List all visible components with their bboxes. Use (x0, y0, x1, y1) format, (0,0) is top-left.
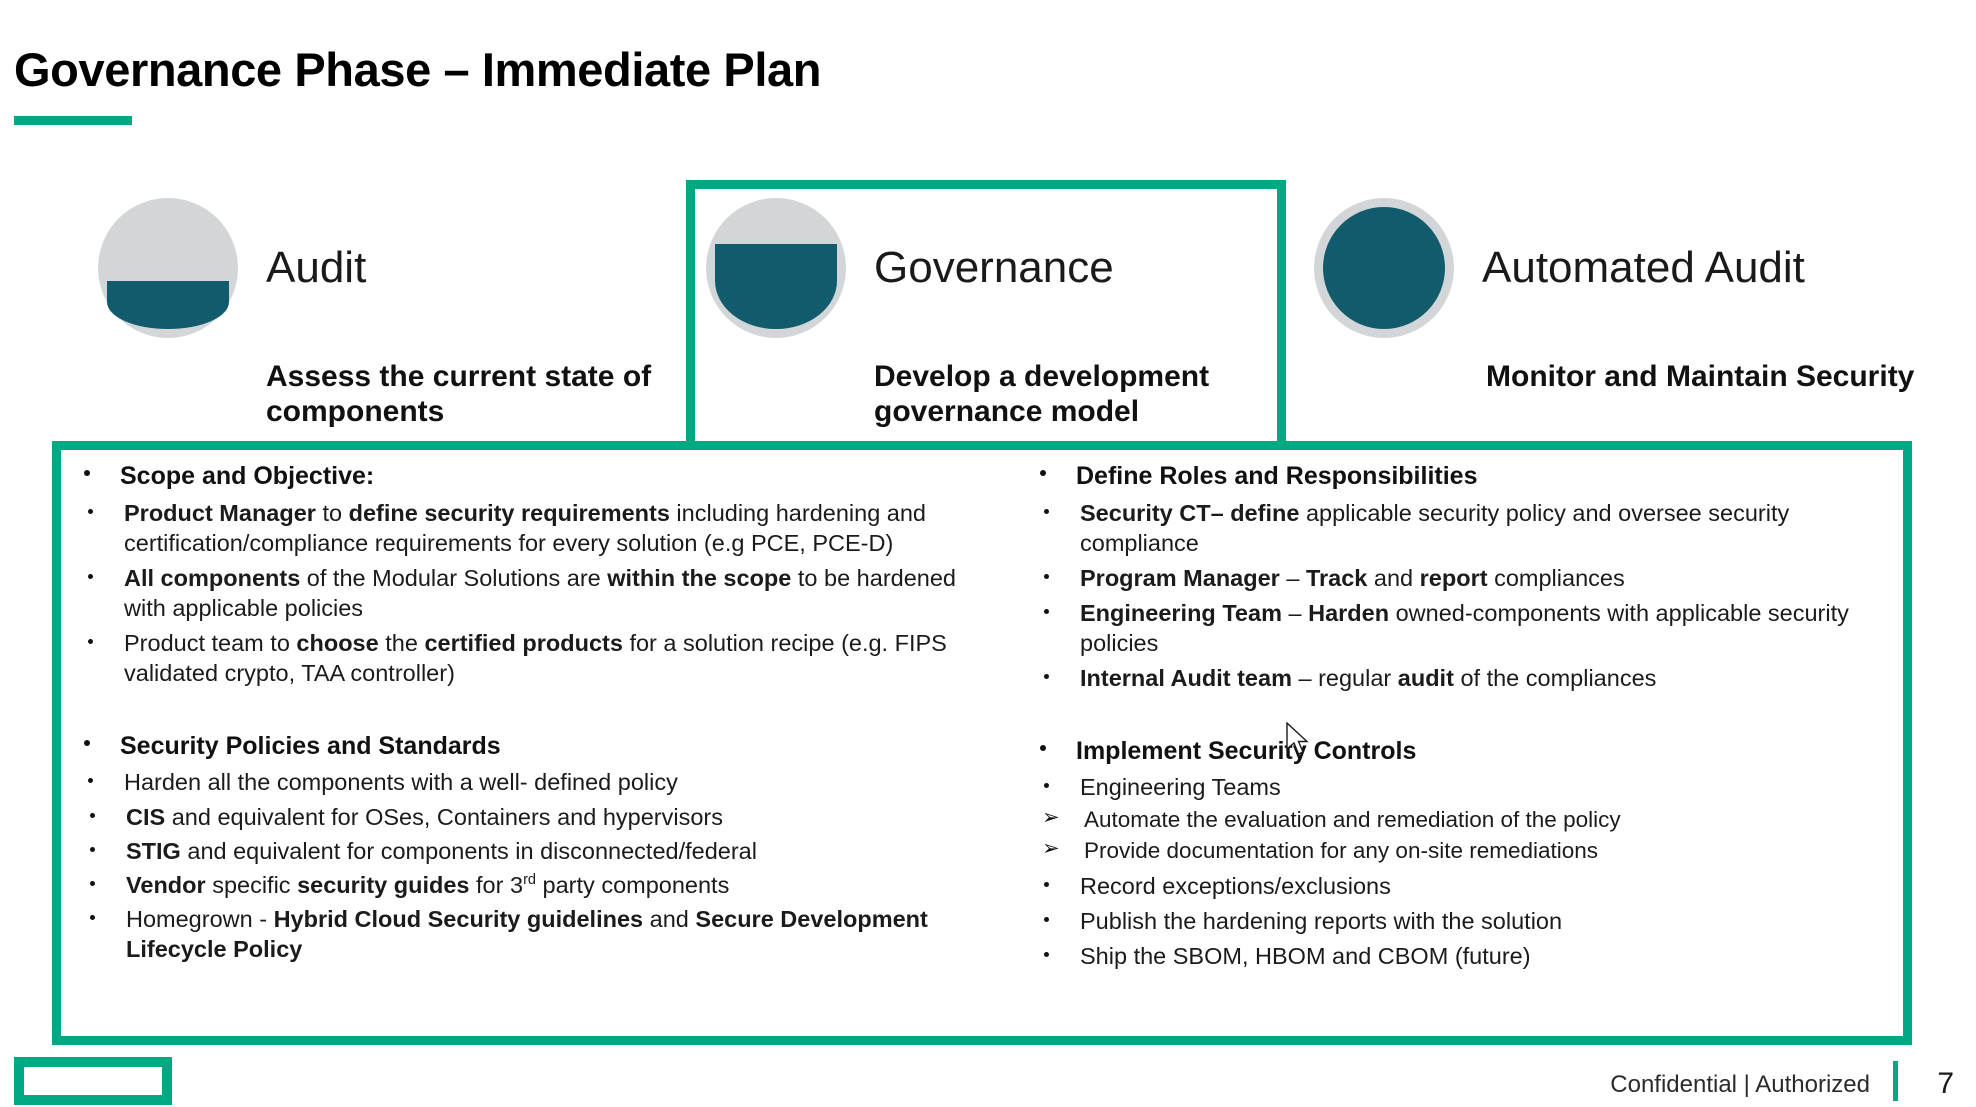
page-title: Governance Phase – Immediate Plan (14, 42, 821, 97)
left-group2-heading: Security Policies and Standards (120, 732, 501, 760)
pillar-governance-subtitle: Develop a development governance model (874, 360, 1304, 430)
list-item: STIG and equivalent for components in di… (62, 836, 968, 866)
left-g1-item2: All components of the Modular Solutions … (124, 565, 956, 621)
left-g2-sub3: Vendor specific security guides for 3rd … (126, 872, 729, 898)
list-item: Engineering Team – Harden owned-componen… (1018, 598, 1898, 658)
pillar-governance[interactable]: Governance Develop a development governa… (706, 198, 1306, 430)
list-item-heading: Define Roles and Responsibilities (1018, 460, 1898, 493)
list-item: Publish the hardening reports with the s… (1018, 906, 1898, 936)
pillar-automated-audit-name: Automated Audit (1482, 246, 1805, 290)
left-g2-sub4: Homegrown - Hybrid Cloud Security guidel… (126, 906, 928, 962)
right-g2-item2: Record exceptions/exclusions (1080, 873, 1391, 899)
right-g2-sub1: Automate the evaluation and remediation … (1084, 807, 1621, 832)
left-g2-sub1: CIS and equivalent for OSes, Containers … (126, 804, 723, 830)
left-g1-item3: Product team to choose the certified pro… (124, 630, 947, 686)
footer-divider (1893, 1061, 1898, 1101)
list-item: CIS and equivalent for OSes, Containers … (62, 802, 968, 832)
slide: Governance Phase – Immediate Plan Audit … (0, 0, 1976, 1107)
right-g1-item4: Internal Audit team – regular audit of t… (1080, 665, 1656, 691)
bullet-dot-icon (84, 470, 90, 476)
bullet-dot-icon (1044, 574, 1049, 579)
arrow-bullet-icon: ➢ (1042, 804, 1060, 831)
list-item: Ship the SBOM, HBOM and CBOM (future) (1018, 941, 1898, 971)
list-item: Program Manager – Track and report compl… (1018, 563, 1898, 593)
bullet-dot-icon (88, 639, 93, 644)
pillars-row: Audit Assess the current state of compon… (0, 198, 1976, 448)
pillar-governance-header: Governance (706, 198, 1306, 338)
confidentiality-notice: Confidential | Authorized (1610, 1071, 1870, 1099)
list-item: Record exceptions/exclusions (1018, 871, 1898, 901)
list-item: Internal Audit team – regular audit of t… (1018, 663, 1898, 693)
left-g2-item1: Harden all the components with a well- d… (124, 769, 678, 795)
pillar-governance-name: Governance (874, 246, 1114, 290)
list-item: ➢ Provide documentation for any on-site … (1018, 837, 1898, 866)
left-group1-heading: Scope and Objective: (120, 462, 374, 490)
right-g2-sub2: Provide documentation for any on-site re… (1084, 838, 1598, 863)
right-column: Define Roles and Responsibilities Securi… (982, 452, 1912, 1032)
pillar-automated-audit[interactable]: Automated Audit Monitor and Maintain Sec… (1314, 198, 1934, 395)
pillar-audit[interactable]: Audit Assess the current state of compon… (98, 198, 698, 430)
bullet-dot-icon (90, 847, 95, 852)
spacer (1018, 693, 1898, 727)
bullet-dot-icon (88, 509, 93, 514)
left-g2-sub2: STIG and equivalent for components in di… (126, 838, 757, 864)
spacer (62, 688, 968, 722)
left-g1-item1: Product Manager to define security requi… (124, 500, 926, 556)
list-item-heading: Scope and Objective: (62, 460, 968, 493)
progress-disc-icon-audit (98, 198, 238, 338)
list-item: Product Manager to define security requi… (62, 498, 968, 558)
pillar-automated-audit-header: Automated Audit (1314, 198, 1934, 338)
arrow-bullet-icon: ➢ (1042, 835, 1060, 862)
bullet-dot-icon (90, 813, 95, 818)
content-columns: Scope and Objective: Product Manager to … (52, 452, 1912, 1032)
right-g1-item1: Security CT– define applicable security … (1080, 500, 1789, 556)
pillar-audit-header: Audit (98, 198, 698, 338)
brand-logo (14, 1057, 172, 1105)
list-item: Product team to choose the certified pro… (62, 628, 968, 688)
list-item: Vendor specific security guides for 3rd … (62, 870, 968, 900)
list-item: All components of the Modular Solutions … (62, 563, 968, 623)
list-item: Homegrown - Hybrid Cloud Security guidel… (62, 904, 968, 964)
bullet-dot-icon (88, 778, 93, 783)
list-item: Harden all the components with a well- d… (62, 767, 968, 797)
bullet-dot-icon (1040, 470, 1046, 476)
right-group1-heading: Define Roles and Responsibilities (1076, 462, 1477, 490)
bullet-dot-icon (1044, 783, 1049, 788)
pillar-automated-audit-subtitle: Monitor and Maintain Security (1486, 360, 1916, 395)
mouse-cursor-icon (1286, 722, 1312, 760)
list-item: Engineering Teams (1018, 772, 1898, 802)
right-group2-heading: Implement Security Controls (1076, 737, 1416, 765)
bullet-dot-icon (90, 915, 95, 920)
right-g2-item1: Engineering Teams (1080, 774, 1281, 800)
list-item: Security CT– define applicable security … (1018, 498, 1898, 558)
right-g1-item2: Program Manager – Track and report compl… (1080, 565, 1625, 591)
page-number: 7 (1937, 1067, 1954, 1101)
list-item-heading: Security Policies and Standards (62, 730, 968, 763)
bullet-dot-icon (1044, 609, 1049, 614)
list-item: ➢ Automate the evaluation and remediatio… (1018, 806, 1898, 835)
pillar-audit-subtitle: Assess the current state of components (266, 360, 696, 430)
bullet-dot-icon (1044, 917, 1049, 922)
right-g2-item4: Ship the SBOM, HBOM and CBOM (future) (1080, 943, 1531, 969)
left-column: Scope and Objective: Product Manager to … (52, 452, 982, 1032)
progress-disc-icon-automated-audit (1314, 198, 1454, 338)
right-g1-item3: Engineering Team – Harden owned-componen… (1080, 600, 1849, 656)
bullet-dot-icon (90, 881, 95, 886)
bullet-dot-icon (1044, 882, 1049, 887)
bullet-dot-icon (88, 574, 93, 579)
bullet-dot-icon (1044, 674, 1049, 679)
bullet-dot-icon (1040, 745, 1046, 751)
bullet-dot-icon (1044, 509, 1049, 514)
progress-disc-icon-governance (706, 198, 846, 338)
bullet-dot-icon (84, 740, 90, 746)
right-g2-item3: Publish the hardening reports with the s… (1080, 908, 1562, 934)
title-underline-accent (14, 116, 132, 125)
list-item-heading: Implement Security Controls (1018, 735, 1898, 768)
pillar-audit-name: Audit (266, 246, 366, 290)
bullet-dot-icon (1044, 952, 1049, 957)
